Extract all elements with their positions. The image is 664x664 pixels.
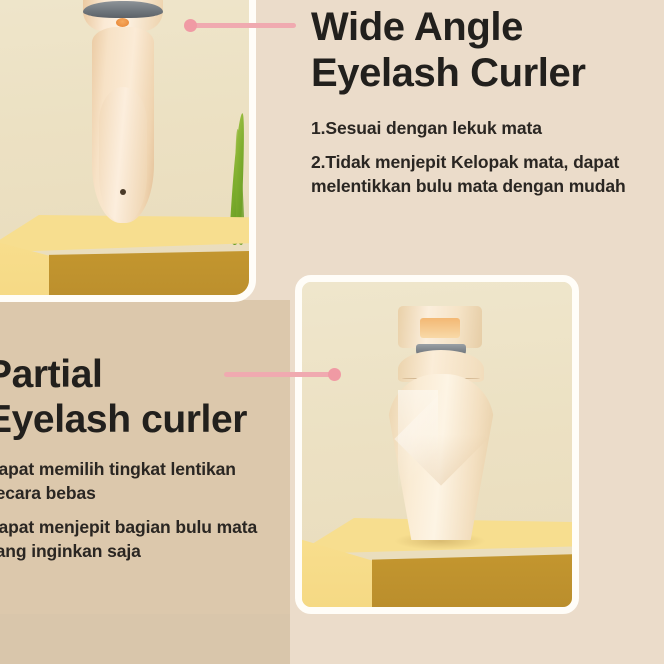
- photo-partial-curler: [295, 275, 579, 614]
- product-clip-opening: [420, 318, 460, 338]
- product-orange-indicator: [116, 18, 129, 27]
- bullet-partial-1: Dapat memilih tingkat lentikan secara be…: [0, 458, 258, 505]
- text-block-partial: Partial Eyelash curler Dapat memilih tin…: [0, 352, 258, 563]
- connector-line-top: [186, 23, 296, 28]
- product-facet-highlight: [398, 390, 438, 500]
- heading-partial-line1: Partial: [0, 352, 258, 397]
- bullet-wide-angle-1: 1.Sesuai dengan lekuk mata: [311, 117, 661, 140]
- photo-scene-bottom-right: [302, 282, 572, 607]
- bullet-wide-angle-2: 2.Tidak menjepit Kelopak mata, dapat mel…: [311, 151, 661, 198]
- photo-wide-angle-curler: [0, 0, 256, 302]
- photo-scene-top-left: [0, 0, 249, 295]
- connector-dot-top: [184, 19, 197, 32]
- bullet-partial-2: Dapat menjepit bagian bulu mata yang ing…: [0, 516, 258, 563]
- background-bottom-strip: [0, 614, 290, 664]
- product-infographic: Wide Angle Eyelash Curler 1.Sesuai denga…: [0, 0, 664, 664]
- pedestal-front-face-2: [372, 554, 572, 607]
- text-block-wide-angle: Wide Angle Eyelash Curler 1.Sesuai denga…: [311, 4, 661, 198]
- product-grip: [99, 87, 147, 223]
- product-rubber-band: [83, 1, 163, 18]
- bullets-wide-angle: 1.Sesuai dengan lekuk mata 2.Tidak menje…: [311, 117, 661, 198]
- heading-partial-line2: Eyelash curler: [0, 397, 258, 442]
- heading-wide-angle-line2: Eyelash Curler: [311, 50, 661, 96]
- heading-wide-angle-line1: Wide Angle: [311, 4, 661, 50]
- bullets-partial: Dapat memilih tingkat lentikan secara be…: [0, 458, 258, 563]
- product-base-dot: [120, 189, 126, 195]
- pedestal-front-face: [49, 251, 249, 295]
- connector-dot-bottom: [328, 368, 341, 381]
